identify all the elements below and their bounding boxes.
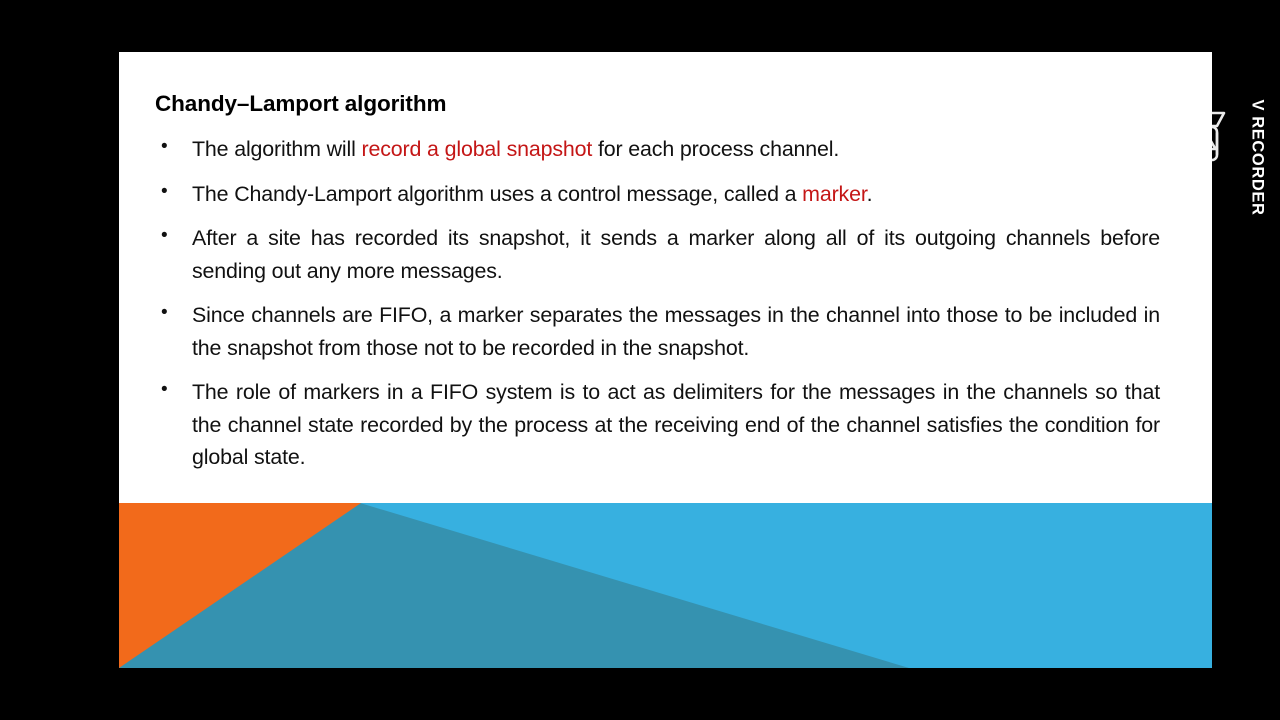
bullet-text: The role of markers in a FIFO system is … — [192, 380, 1160, 469]
slide-title: Chandy–Lamport algorithm — [155, 90, 1160, 117]
bullet-item: The role of markers in a FIFO system is … — [155, 376, 1160, 474]
bullet-text: After a site has recorded its snapshot, … — [192, 226, 1160, 283]
presentation-slide: Chandy–Lamport algorithm The algorithm w… — [119, 52, 1212, 668]
slide-content: Chandy–Lamport algorithm The algorithm w… — [155, 90, 1160, 474]
bullet-text: The algorithm will — [192, 137, 362, 161]
bullet-text: for each process channel. — [592, 137, 839, 161]
screen-recorder-watermark: V RECORDER — [1240, 60, 1274, 250]
bullet-text: Since channels are FIFO, a marker separa… — [192, 303, 1160, 360]
watermark-label: V RECORDER — [1248, 93, 1267, 223]
bullet-text: The Chandy-Lamport algorithm uses a cont… — [192, 182, 802, 206]
highlighted-text: record a global snapshot — [362, 137, 593, 161]
bullet-list: The algorithm will record a global snaps… — [155, 133, 1160, 474]
bullet-item: After a site has recorded its snapshot, … — [155, 222, 1160, 287]
screen-root: Chandy–Lamport algorithm The algorithm w… — [0, 0, 1280, 720]
bullet-text: . — [867, 182, 873, 206]
bullet-item: The Chandy-Lamport algorithm uses a cont… — [155, 178, 1160, 211]
decorative-color-band — [119, 503, 1212, 668]
bullet-item: The algorithm will record a global snaps… — [155, 133, 1160, 166]
bullet-item: Since channels are FIFO, a marker separa… — [155, 299, 1160, 364]
highlighted-text: marker — [802, 182, 866, 206]
